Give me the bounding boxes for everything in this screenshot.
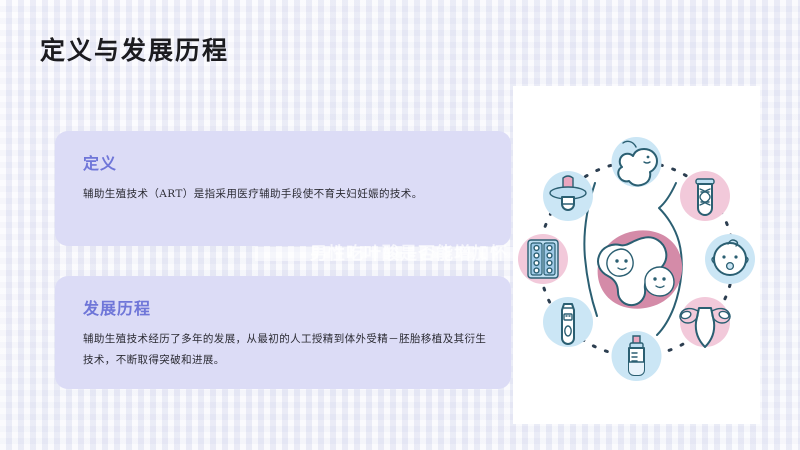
slide-canvas: 定义与发展历程 定义 辅助生殖技术（ART）是指采用医疗辅助手段使不育夫妇妊娠的… [0, 0, 800, 450]
baby-face-icon [705, 234, 755, 284]
fetus-icon [612, 137, 662, 187]
history-card-body: 辅助生殖技术经历了多年的发展，从最初的人工授精到体外受精－胚胎移植及其衍生技术，… [83, 329, 487, 371]
uterus-icon [680, 297, 730, 347]
definition-card: 定义 辅助生殖技术（ART）是指采用医疗辅助手段使不育夫妇妊娠的技术。 [55, 131, 511, 246]
definition-card-body: 辅助生殖技术（ART）是指采用医疗辅助手段使不育夫妇妊娠的技术。 [83, 184, 487, 205]
dna-test-tube-icon [680, 171, 730, 221]
page-title: 定义与发展历程 [40, 31, 229, 67]
baby-bottle-icon [612, 331, 662, 381]
pacifier-icon [543, 171, 593, 221]
history-card-heading: 发展历程 [83, 295, 151, 319]
pill-blister-icon [518, 234, 568, 284]
history-card: 发展历程 辅助生殖技术经历了多年的发展，从最初的人工授精到体外受精－胚胎移植及其… [55, 276, 511, 389]
illustration-panel: .ol{fill:none;stroke:#2b5f72;stroke-widt… [513, 86, 760, 424]
fertility-illustration: .ol{fill:none;stroke:#2b5f72;stroke-widt… [513, 86, 760, 424]
twin-fetuses-icon [598, 230, 683, 308]
definition-card-heading: 定义 [83, 150, 117, 174]
pregnancy-test-icon [543, 297, 593, 347]
